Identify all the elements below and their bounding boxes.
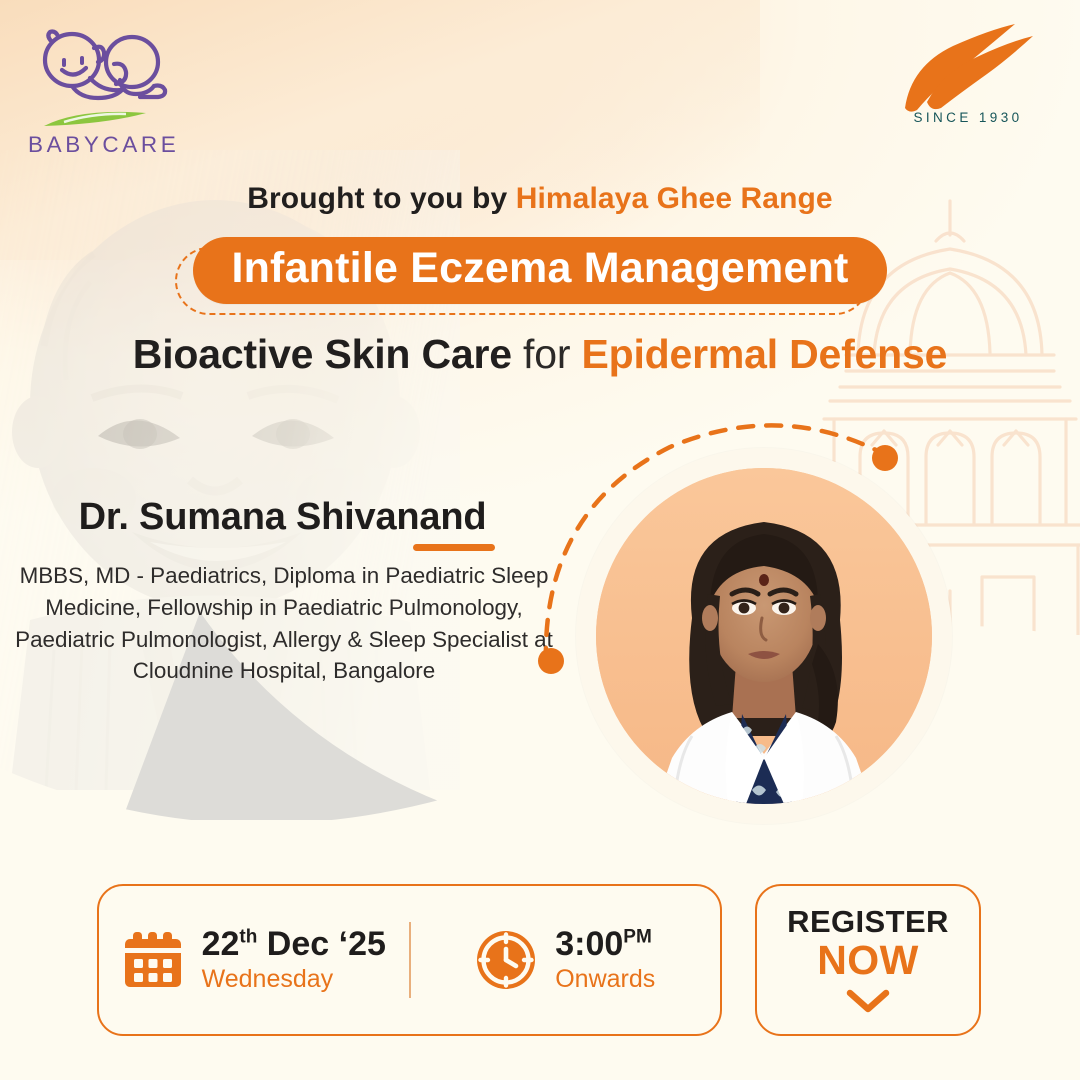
event-time-note: Onwards [555,964,655,994]
title-pill: Infantile Eczema Management [193,237,887,304]
event-date-group: 22th Dec ‘25 Wednesday [99,926,409,994]
event-time-line: 3:00PM [555,926,655,963]
title-pill-wrapper: Infantile Eczema Management [0,237,1080,304]
register-now-label: NOW [817,939,918,982]
title-text: Infantile Eczema Management [227,246,853,291]
brought-to-you-by: Brought to you by Himalaya Ghee Range [0,182,1080,216]
brought-prefix: Brought to you by [247,182,515,215]
speaker-name: Dr. Sumana Shivanand [0,496,565,539]
clock-icon [475,929,537,991]
calendar-icon [122,929,184,991]
speaker-credentials: MBBS, MD - Paediatrics, Diploma in Paedi… [14,560,554,687]
webinar-poster: BABYCARE SINCE 1930 Brought to you by Hi… [0,0,1080,1080]
baby-lying-icon [28,28,168,106]
event-weekday: Wednesday [202,964,386,994]
event-date-day: 22 [202,925,240,963]
babycare-logo: BABYCARE [28,28,208,148]
subtitle: Bioactive Skin Care for Epidermal Defens… [0,331,1080,379]
subtitle-orange: Epidermal Defense [581,331,947,377]
subtitle-light: for [512,331,582,377]
event-time-group: 3:00PM Onwards [411,926,721,994]
register-label: REGISTER [787,906,949,939]
event-time-meridiem: PM [623,927,652,948]
register-now-button[interactable]: REGISTER NOW [755,884,981,1036]
event-time-text: 3:00PM Onwards [555,926,655,994]
event-date-ordinal: th [239,927,257,948]
speaker-name-underline [413,544,495,551]
brought-brand: Himalaya Ghee Range [516,182,833,215]
himalaya-logo: SINCE 1930 [878,22,1058,147]
himalaya-flame-leaf-icon [893,22,1043,114]
chevron-down-icon [845,988,891,1014]
subtitle-bold: Bioactive Skin Care [133,331,512,377]
event-date-text: 22th Dec ‘25 Wednesday [202,926,386,994]
event-time-value: 3:00 [555,925,623,963]
himalaya-since-text: SINCE 1930 [878,110,1058,125]
event-info-card: 22th Dec ‘25 Wednesday [97,884,722,1036]
event-date-rest: Dec ‘25 [257,925,386,963]
arc-dot-left [538,648,564,674]
doctor-photo [596,468,932,804]
event-date-line: 22th Dec ‘25 [202,926,386,963]
arc-dot-top [872,445,898,471]
green-swoosh-icon [42,108,152,130]
babycare-wordmark: BABYCARE [28,132,208,158]
